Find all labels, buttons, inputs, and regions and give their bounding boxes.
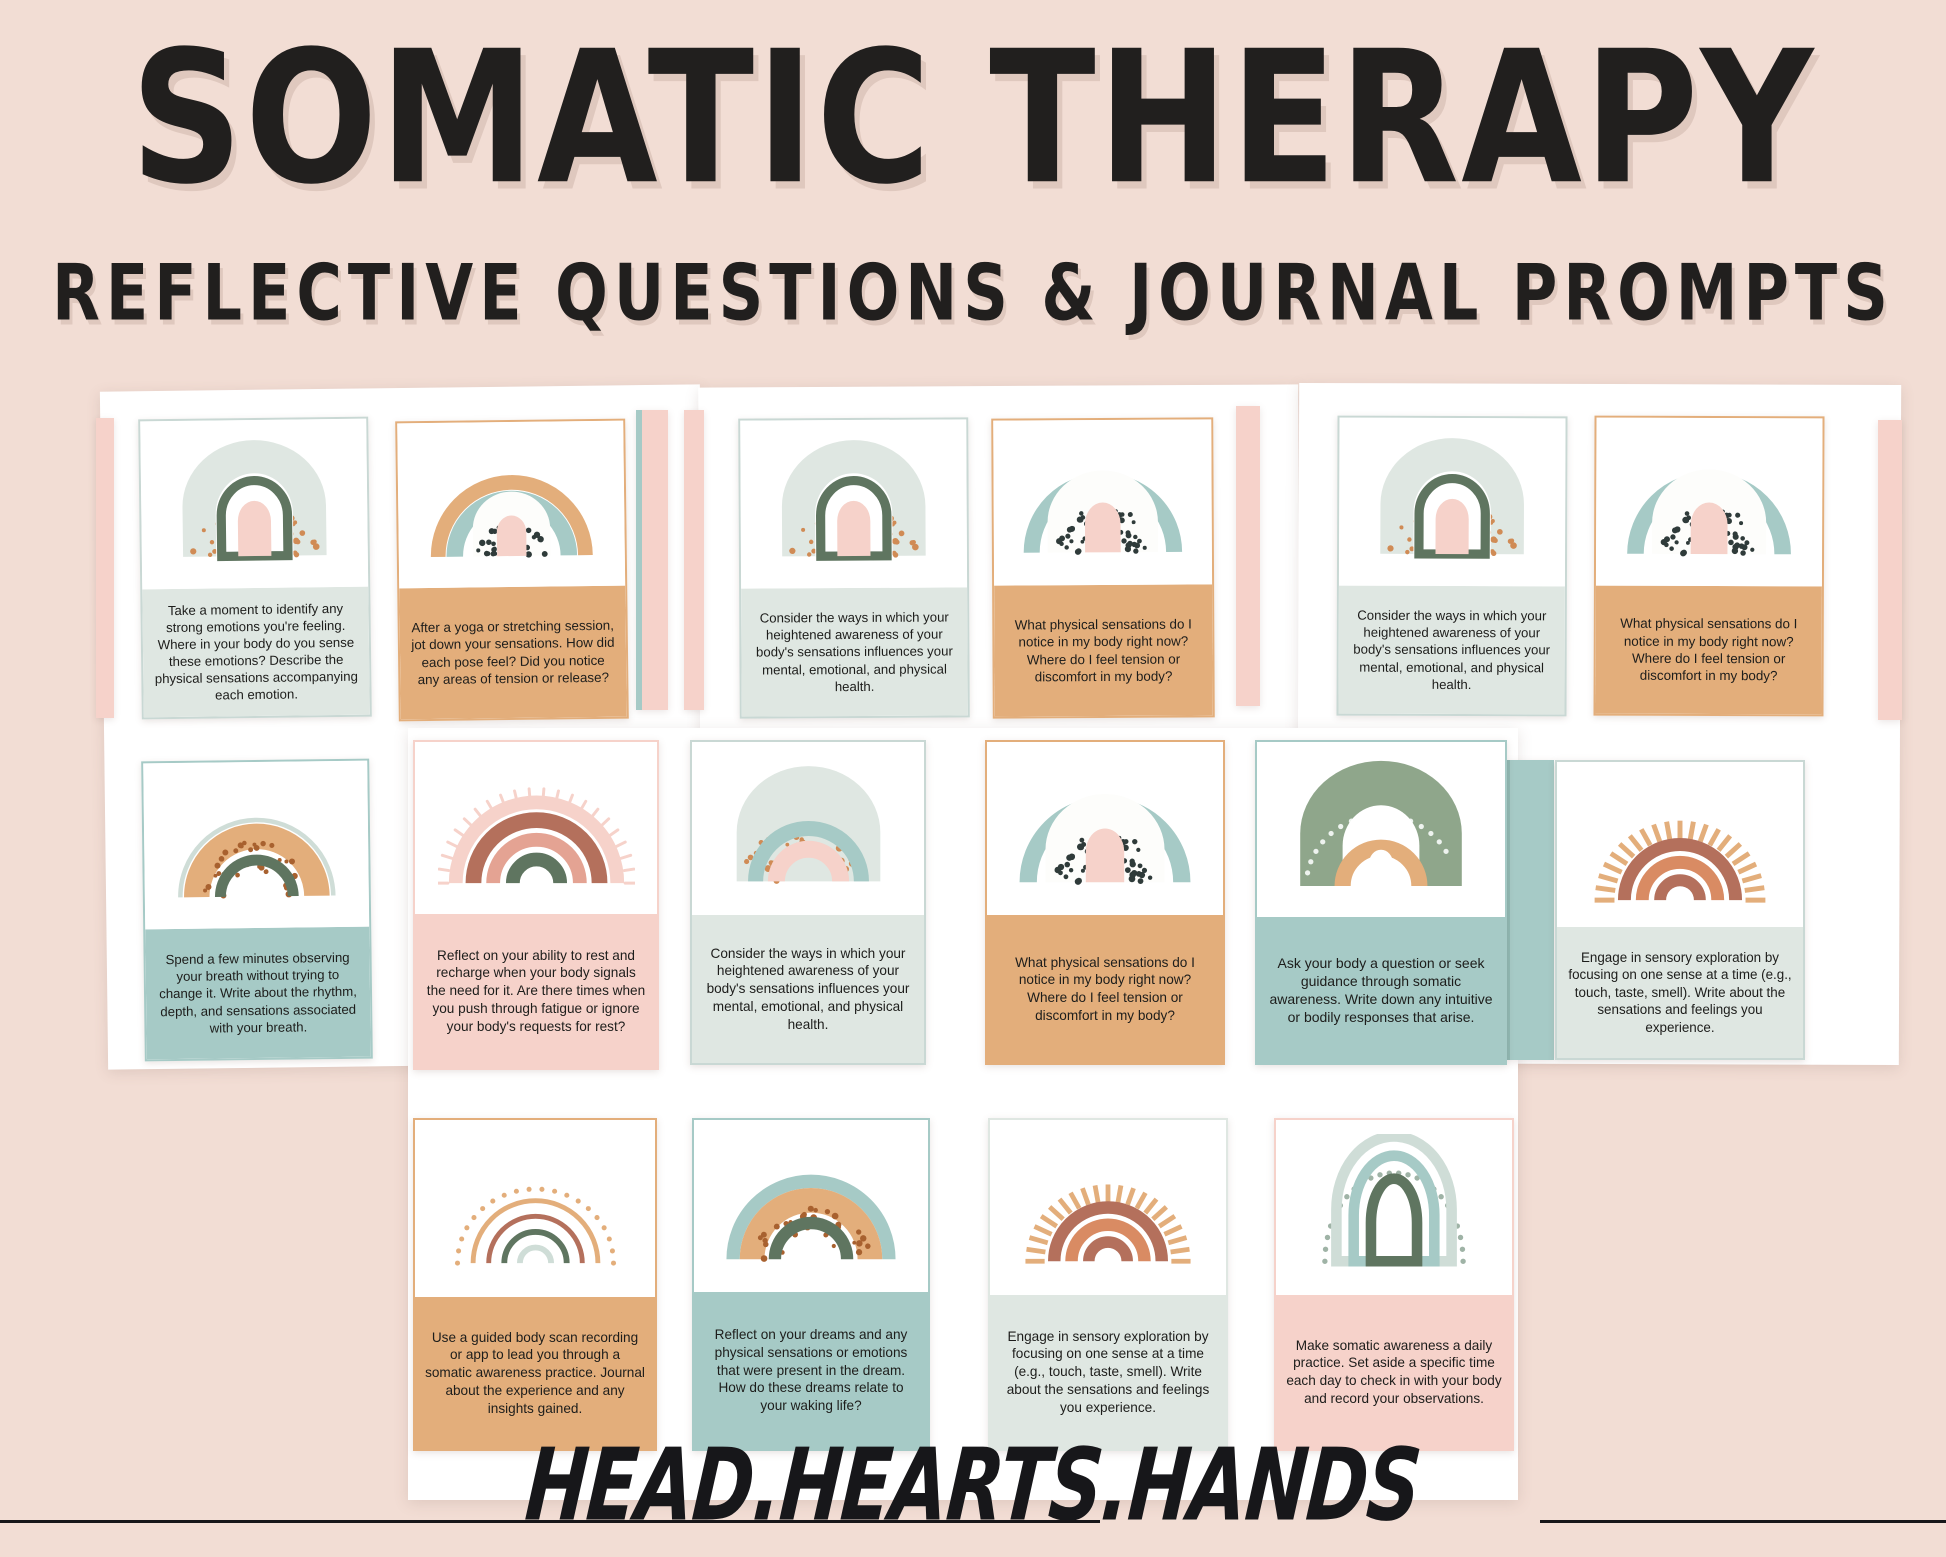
page-title: SOMATIC THERAPY <box>0 28 1946 211</box>
prompt-card-caption: Consider the ways in which your heighten… <box>741 587 968 716</box>
rainbow-illustration-icon <box>397 421 625 589</box>
caption-text: Spend a few minutes observing your breat… <box>155 949 360 1037</box>
caption-text: Consider the ways in which your heighten… <box>1349 607 1555 693</box>
brand-watermark: HEAD.HEARTS.HANDS <box>0 1428 1946 1544</box>
rainbow-illustration-icon <box>990 1120 1226 1295</box>
caption-text: Ask your body a question or seek guidanc… <box>1267 954 1495 1027</box>
caption-text: After a yoga or stretching session, jot … <box>410 616 617 688</box>
prompt-card-caption: Consider the ways in which your heighten… <box>1338 586 1564 715</box>
rainbow-illustration-icon <box>1339 418 1566 587</box>
caption-text: What physical sensations do I notice in … <box>1606 615 1812 685</box>
rainbow-illustration-icon <box>415 742 657 914</box>
rainbow-illustration-icon <box>740 419 967 588</box>
prompt-card-caption: After a yoga or stretching session, jot … <box>399 586 627 720</box>
prompt-card[interactable]: Engage in sensory exploration by focusin… <box>988 1118 1228 1451</box>
rainbow-illustration-icon <box>1257 742 1505 917</box>
caption-text: Make somatic awareness a daily practice.… <box>1286 1337 1502 1408</box>
card-sliver-row2-hidden <box>1505 760 1554 1060</box>
footer-rule-right <box>1540 1520 1946 1523</box>
rainbow-illustration-icon <box>1596 418 1823 587</box>
prompt-card-caption: What physical sensations do I notice in … <box>987 915 1223 1063</box>
prompt-card[interactable]: After a yoga or stretching session, jot … <box>395 419 629 722</box>
prompt-card[interactable]: Reflect on your dreams and any physical … <box>692 1118 930 1451</box>
prompt-card-caption: Engage in sensory exploration by focusin… <box>1557 927 1803 1058</box>
rainbow-illustration-icon <box>415 1120 655 1297</box>
rainbow-illustration-icon <box>1276 1120 1512 1295</box>
prompt-card[interactable]: Spend a few minutes observing your breat… <box>141 759 373 1062</box>
prompt-card[interactable]: Take a moment to identify any strong emo… <box>138 417 372 720</box>
prompt-card[interactable]: Use a guided body scan recording or app … <box>413 1118 657 1451</box>
rainbow-illustration-icon <box>694 1120 928 1292</box>
prompt-card-caption: Engage in sensory exploration by focusin… <box>990 1295 1226 1449</box>
footer-rule-left <box>0 1520 1100 1523</box>
prompt-card[interactable]: Consider the ways in which your heighten… <box>738 417 970 718</box>
prompt-card-caption: Consider the ways in which your heighten… <box>692 915 924 1063</box>
prompt-card-caption: What physical sensations do I notice in … <box>1595 586 1821 715</box>
caption-text: Consider the ways in which your heighten… <box>702 945 914 1033</box>
card-sliver-right <box>1878 420 1902 720</box>
prompt-card[interactable]: Make somatic awareness a daily practice.… <box>1274 1118 1514 1451</box>
caption-text: Reflect on your ability to rest and rech… <box>425 947 647 1035</box>
rainbow-illustration-icon <box>140 419 368 590</box>
rainbow-illustration-icon <box>692 742 924 915</box>
caption-text: Use a guided body scan recording or app … <box>425 1329 645 1417</box>
caption-text: Reflect on your dreams and any physical … <box>704 1326 918 1414</box>
card-sliver-mid-2 <box>684 410 704 710</box>
prompt-card-caption: Use a guided body scan recording or app … <box>415 1297 655 1449</box>
prompt-card[interactable]: Reflect on your ability to rest and rech… <box>413 740 659 1070</box>
prompt-card-caption: Reflect on your ability to rest and rech… <box>415 914 657 1068</box>
prompt-card-caption: Reflect on your dreams and any physical … <box>694 1292 928 1449</box>
prompt-card-caption: Make somatic awareness a daily practice.… <box>1276 1295 1512 1449</box>
caption-text: What physical sensations do I notice in … <box>997 954 1213 1025</box>
rainbow-illustration-icon <box>993 419 1212 585</box>
caption-text: Take a moment to identify any strong emo… <box>152 599 359 704</box>
caption-text: Engage in sensory exploration by focusin… <box>1567 949 1793 1036</box>
rainbow-illustration-icon <box>987 742 1223 915</box>
prompt-card[interactable]: Consider the ways in which your heighten… <box>690 740 926 1065</box>
rainbow-illustration-icon <box>1557 762 1803 927</box>
page-header: SOMATIC THERAPY REFLECTIVE QUESTIONS & J… <box>0 0 1946 329</box>
caption-text: What physical sensations do I notice in … <box>1004 615 1202 686</box>
prompt-card[interactable]: What physical sensations do I notice in … <box>991 417 1215 718</box>
card-sliver-mid-1 <box>636 410 668 710</box>
prompt-card-caption: Ask your body a question or seek guidanc… <box>1257 917 1505 1063</box>
caption-text: Consider the ways in which your heighten… <box>751 609 957 696</box>
card-sliver-mid-3 <box>1236 406 1260 706</box>
prompt-card-caption: Take a moment to identify any strong emo… <box>142 587 370 718</box>
prompt-card[interactable]: Ask your body a question or seek guidanc… <box>1255 740 1507 1065</box>
prompt-card-caption: What physical sensations do I notice in … <box>994 584 1213 716</box>
prompt-card[interactable]: Consider the ways in which your heighten… <box>1336 416 1567 717</box>
prompt-card[interactable]: Engage in sensory exploration by focusin… <box>1555 760 1805 1060</box>
rainbow-illustration-icon <box>143 761 369 930</box>
prompt-card[interactable]: What physical sensations do I notice in … <box>985 740 1225 1065</box>
page-subtitle: REFLECTIVE QUESTIONS & JOURNAL PROMPTS <box>0 247 1946 338</box>
card-sliver-left <box>96 418 114 718</box>
caption-text: Engage in sensory exploration by focusin… <box>1000 1328 1216 1416</box>
prompt-card[interactable]: What physical sensations do I notice in … <box>1593 416 1824 717</box>
prompt-card-caption: Spend a few minutes observing your breat… <box>145 927 371 1060</box>
